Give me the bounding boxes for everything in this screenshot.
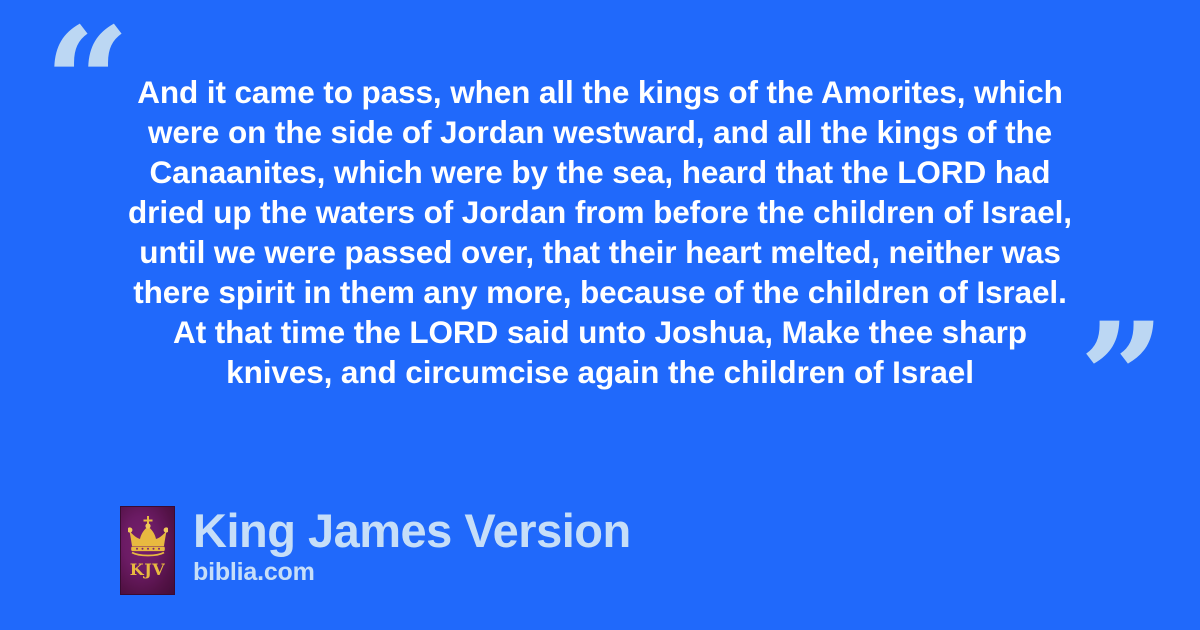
closing-quote-icon: ”: [1079, 303, 1165, 453]
kjv-badge-label: KJV: [121, 560, 174, 579]
brand-footer: KJV King James Version biblia.com: [120, 506, 631, 595]
brand-url: biblia.com: [193, 557, 631, 587]
brand-title: King James Version: [193, 506, 631, 556]
quote-text: And it came to pass, when all the kings …: [118, 72, 1082, 392]
brand-text-group: King James Version biblia.com: [193, 506, 631, 587]
quote-card: “ ” And it came to pass, when all the ki…: [0, 0, 1200, 630]
quote-block: And it came to pass, when all the kings …: [118, 72, 1082, 392]
kjv-logo-badge: KJV: [120, 506, 175, 595]
crown-icon: [128, 516, 168, 563]
